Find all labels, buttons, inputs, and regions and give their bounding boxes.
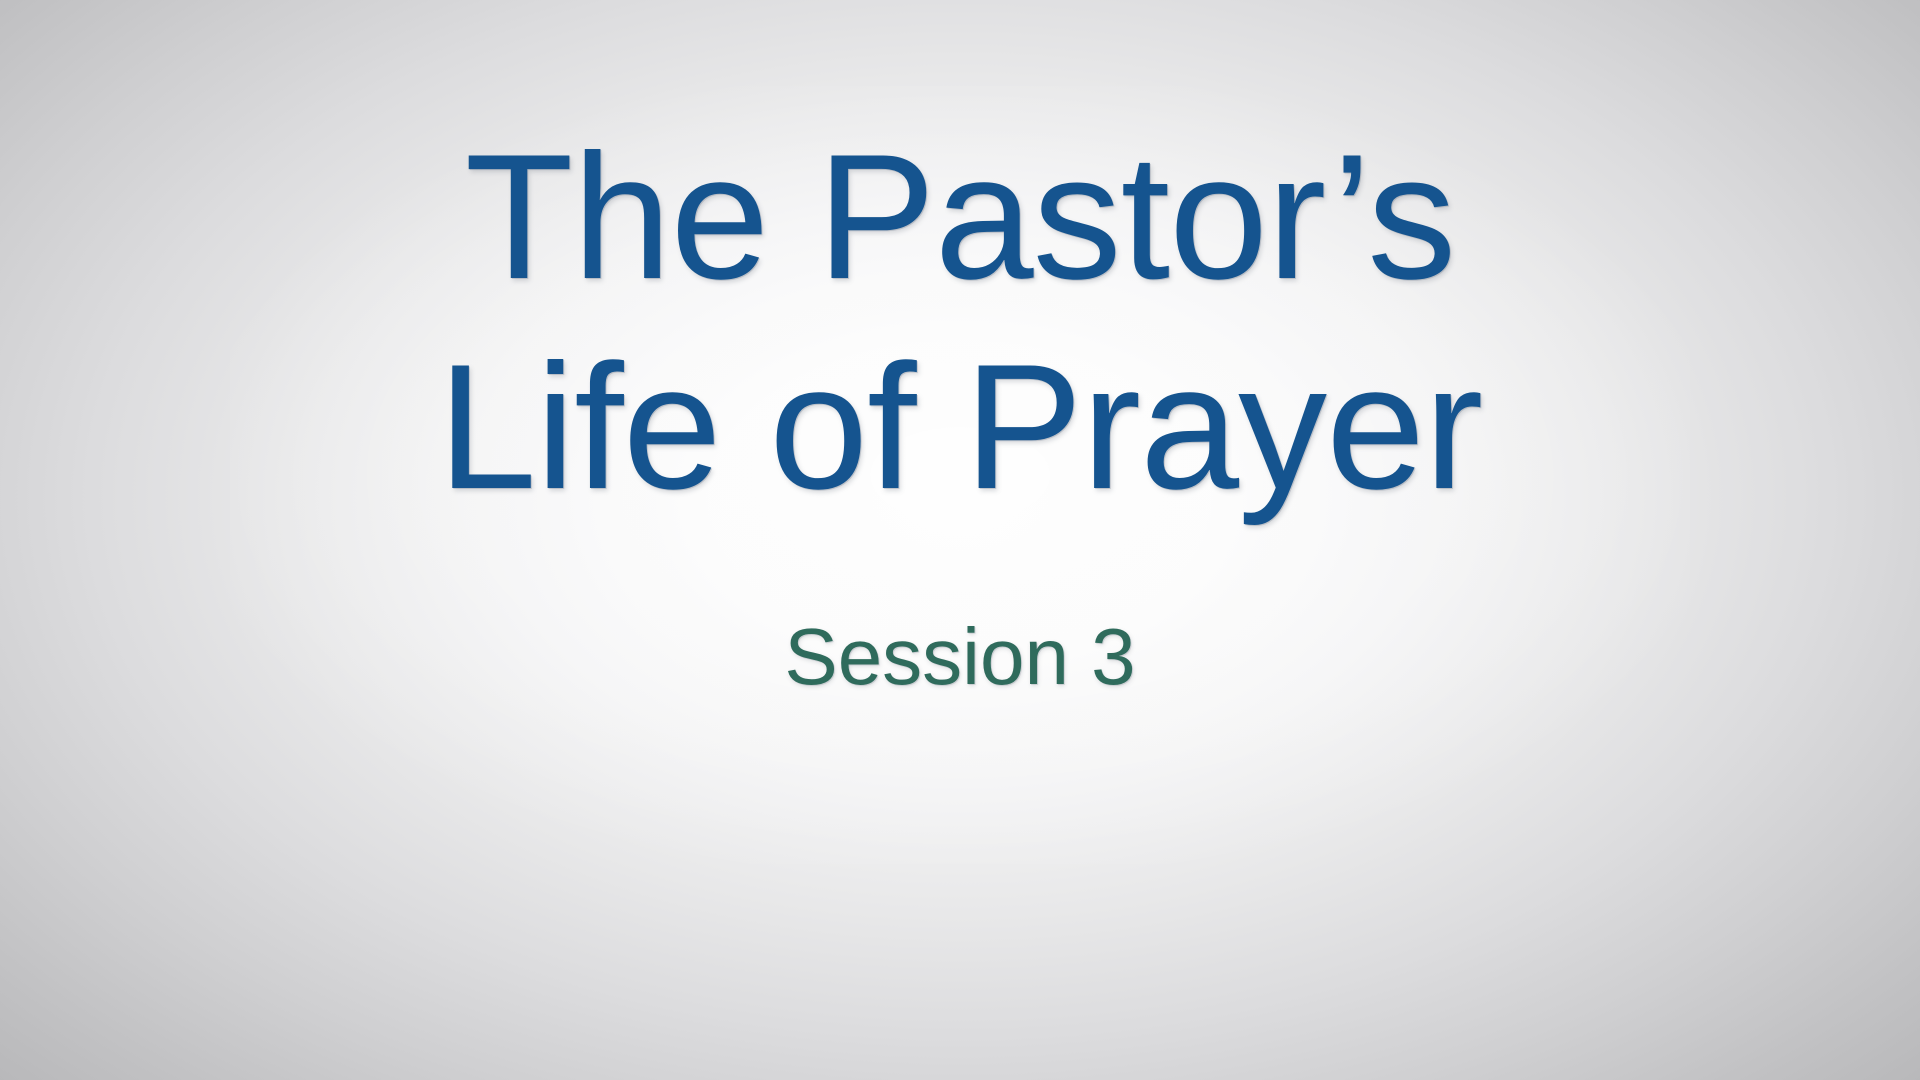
subtitle: Session 3 xyxy=(0,613,1920,701)
slide-content: The Pastor’s Life of Prayer Session 3 xyxy=(0,0,1920,1080)
page-title: The Pastor’s Life of Prayer xyxy=(0,126,1920,517)
title-slide: The Pastor’s Life of Prayer Session 3 xyxy=(0,0,1920,1080)
title-line-1: The Pastor’s xyxy=(465,126,1456,308)
title-line-2: Life of Prayer xyxy=(438,336,1483,518)
session-label: Session 3 xyxy=(784,613,1135,701)
